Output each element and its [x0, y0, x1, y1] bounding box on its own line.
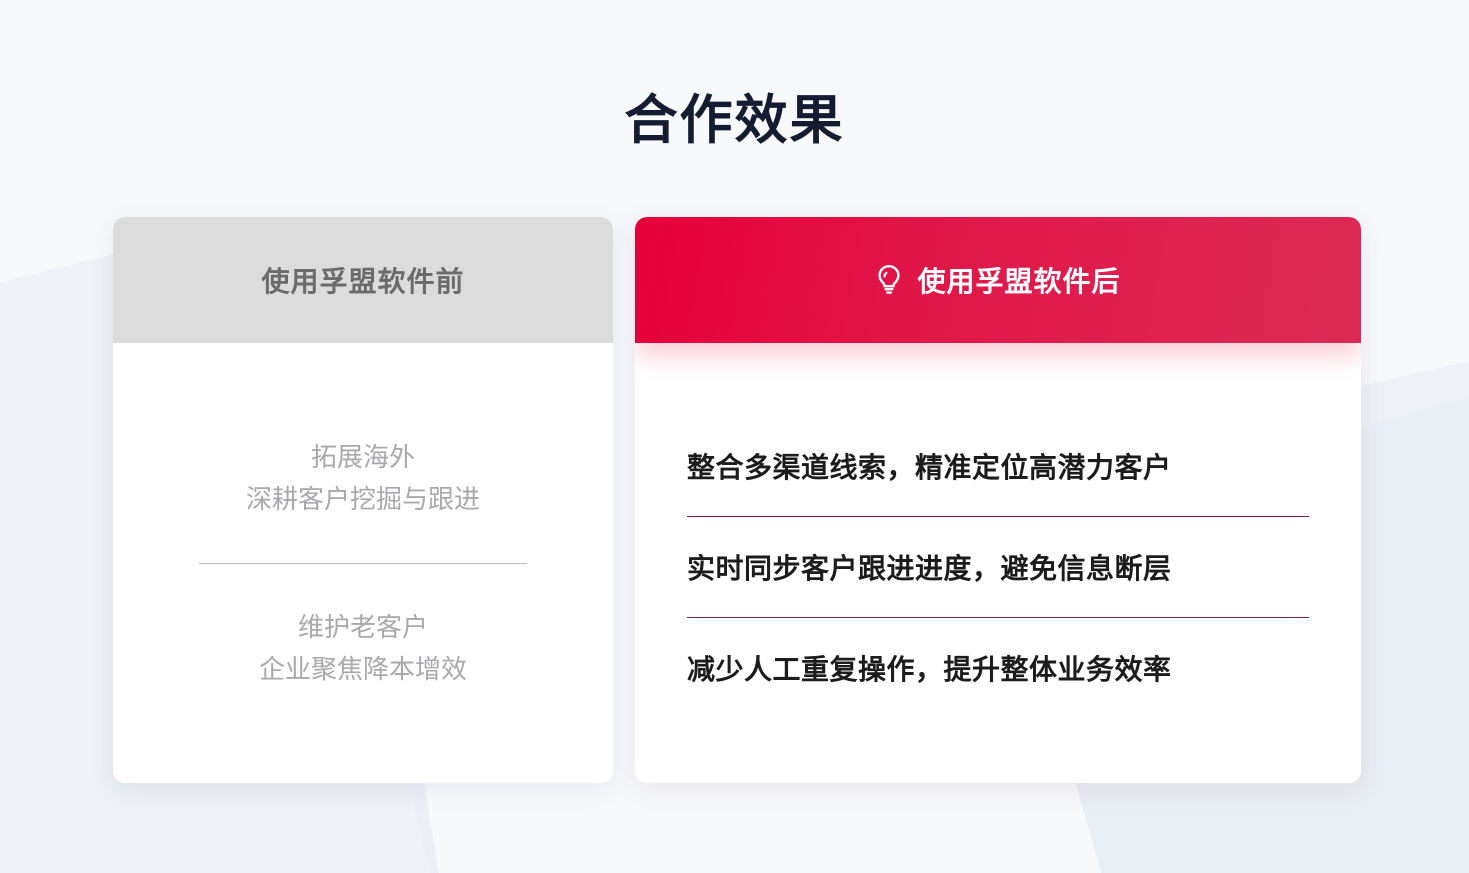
page-title: 合作效果	[0, 78, 1469, 154]
after-card-divider-2	[687, 617, 1309, 618]
after-item-1: 整合多渠道线索，精准定位高潜力客户	[687, 430, 1309, 502]
before-item-2-line-2: 企业聚焦降本增效	[259, 648, 467, 690]
before-card-title: 使用孚盟软件前	[261, 260, 464, 300]
before-item-1: 拓展海外 深耕客户挖掘与跟进	[246, 430, 480, 526]
before-item-2-line-1: 维护老客户	[259, 606, 467, 648]
after-card-header: 使用孚盟软件后	[635, 217, 1361, 343]
after-item-3: 减少人工重复操作，提升整体业务效率	[687, 632, 1309, 704]
before-card-divider	[199, 563, 527, 564]
before-card: 使用孚盟软件前 拓展海外 深耕客户挖掘与跟进 维护老客户 企业聚焦降本增效	[113, 217, 613, 783]
after-item-2: 实时同步客户跟进进度，避免信息断层	[687, 531, 1309, 603]
after-card-divider-1	[687, 516, 1309, 517]
after-card-body: 整合多渠道线索，精准定位高潜力客户 实时同步客户跟进进度，避免信息断层 减少人工…	[635, 343, 1361, 783]
after-card-title: 使用孚盟软件后	[917, 260, 1120, 300]
after-card: 使用孚盟软件后 整合多渠道线索，精准定位高潜力客户 实时同步客户跟进进度，避免信…	[635, 217, 1361, 783]
comparison-cards: 使用孚盟软件前 拓展海外 深耕客户挖掘与跟进 维护老客户 企业聚焦降本增效	[113, 217, 1361, 785]
before-item-1-line-2: 深耕客户挖掘与跟进	[246, 478, 480, 520]
lightbulb-icon	[875, 264, 903, 296]
before-card-body: 拓展海外 深耕客户挖掘与跟进 维护老客户 企业聚焦降本增效	[113, 343, 613, 783]
before-card-header: 使用孚盟软件前	[113, 217, 613, 343]
before-item-2: 维护老客户 企业聚焦降本增效	[259, 600, 467, 696]
before-item-1-line-1: 拓展海外	[246, 436, 480, 478]
